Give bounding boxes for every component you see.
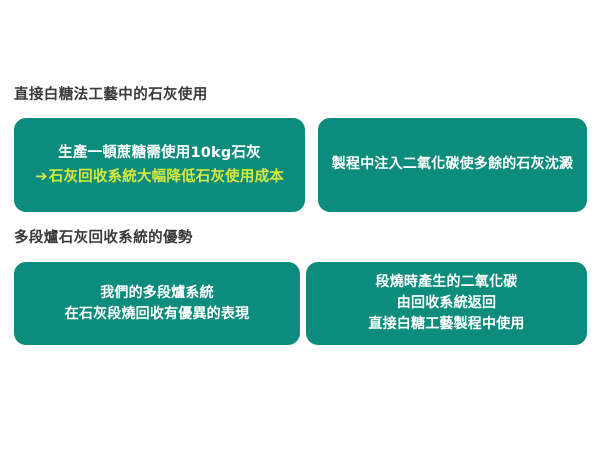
- card-co2-recycle-loop: 段燒時產生的二氧化碳 由回收系統返回 直接白糖工藝製程中使用: [306, 262, 587, 345]
- card-co2-injection: 製程中注入二氧化碳使多餘的石灰沈澱: [318, 118, 587, 212]
- card-line-text: 直接白糖工藝製程中使用: [316, 314, 577, 335]
- arrow-right-icon: ➔: [35, 167, 48, 185]
- card-line-accent-text: 石灰回收系統大幅降低石灰使用成本: [49, 169, 284, 185]
- card-multihearth-performance: 我們的多段爐系統 在石灰段燒回收有優異的表現: [14, 262, 300, 345]
- card-line-accent: ➔石灰回收系統大幅降低石灰使用成本: [24, 165, 295, 188]
- card-lime-consumption: 生產一頓蔗糖需使用10kg石灰 ➔石灰回收系統大幅降低石灰使用成本: [14, 118, 305, 212]
- card-line-text: 由回收系統返回: [316, 293, 577, 314]
- card-line-text: 段燒時產生的二氧化碳: [316, 272, 577, 293]
- slide-canvas: 直接白糖法工藝中的石灰使用 生產一頓蔗糖需使用10kg石灰 ➔石灰回收系統大幅降…: [0, 0, 600, 450]
- card-line-text: 製程中注入二氧化碳使多餘的石灰沈澱: [328, 154, 577, 176]
- card-line-text: 在石灰段燒回收有優異的表現: [24, 304, 290, 325]
- card-line-text: 我們的多段爐系統: [24, 283, 290, 304]
- section-heading-lime-usage: 直接白糖法工藝中的石灰使用: [14, 88, 208, 103]
- card-line-text: 生產一頓蔗糖需使用10kg石灰: [24, 142, 295, 164]
- section-heading-multihearth-advantage: 多段爐石灰回收系統的優勢: [14, 231, 193, 246]
